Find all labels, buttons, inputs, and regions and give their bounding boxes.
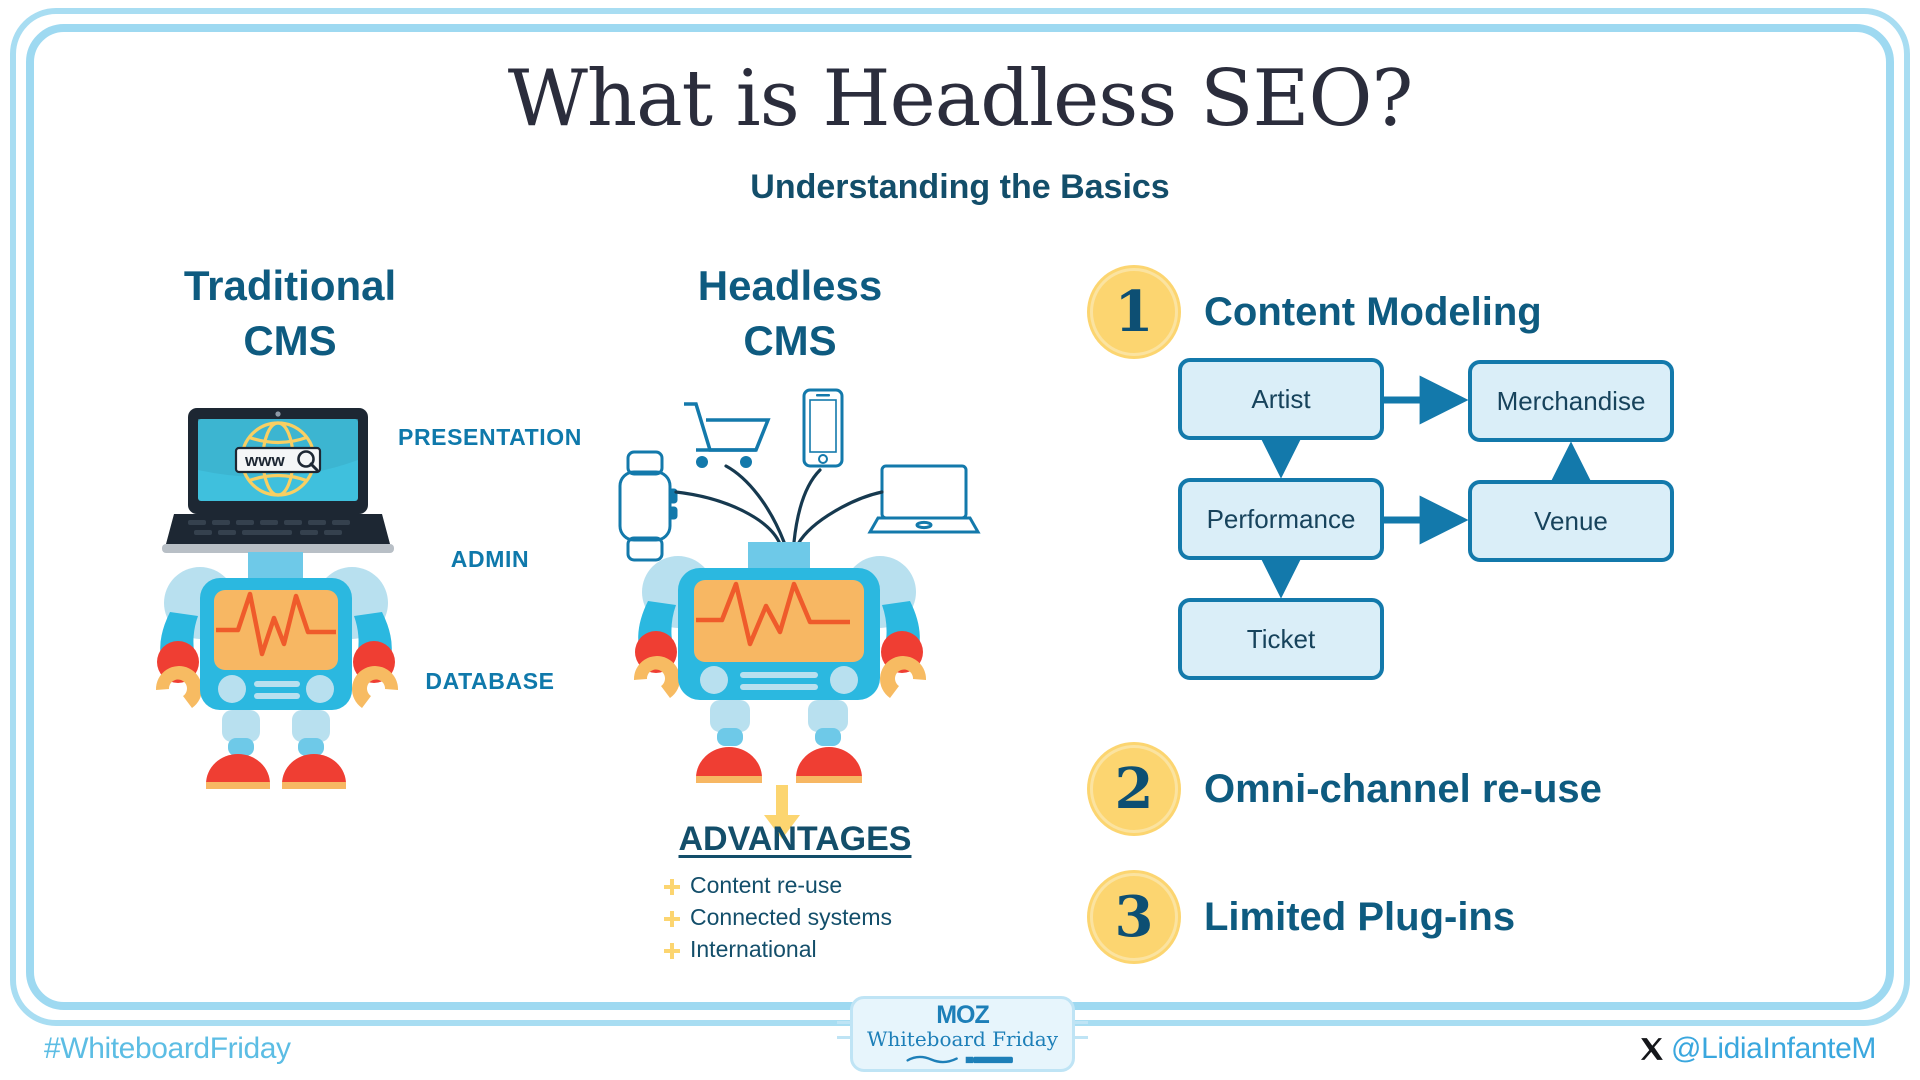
- channel-cables: [676, 466, 882, 544]
- page-subtitle: Understanding the Basics: [0, 168, 1920, 207]
- advantage-label: Content re-use: [690, 872, 842, 899]
- step-item-1: 1 Content Modeling: [1090, 268, 1542, 356]
- smartphone-icon: [804, 390, 842, 466]
- heading-headless-line1: Headless: [620, 258, 960, 313]
- step-item-3: 3 Limited Plug-ins: [1090, 873, 1515, 961]
- moz-badge-title: Whiteboard Friday: [867, 1028, 1058, 1051]
- plus-icon: [662, 876, 682, 896]
- marker-squiggle-icon: [904, 1053, 1022, 1066]
- moz-whiteboard-friday-badge: MOZ Whiteboard Friday: [850, 996, 1075, 1072]
- traditional-cms-robot-illustration: www: [132, 400, 422, 790]
- step-label: Limited Plug-ins: [1204, 895, 1515, 940]
- moz-wordmark: MOZ: [936, 1003, 989, 1028]
- plus-icon: [662, 940, 682, 960]
- headless-cms-robot-illustration: [598, 382, 988, 802]
- advantages-list: Content re-use Connected systems Interna…: [662, 872, 992, 968]
- footer-social-handle[interactable]: @LidiaInfanteM: [1639, 1032, 1876, 1066]
- heading-headless-cms: Headless CMS: [620, 258, 960, 369]
- node-ticket[interactable]: Ticket: [1178, 598, 1384, 680]
- step-number-badge: 1: [1090, 268, 1178, 356]
- advantage-item: International: [662, 936, 992, 963]
- page-title: What is Headless SEO?: [0, 60, 1920, 138]
- badge-tab-right: [1072, 1021, 1088, 1039]
- shopping-cart-icon: [684, 404, 768, 468]
- step-item-2: 2 Omni-channel re-use: [1090, 745, 1602, 833]
- smartwatch-icon: [620, 452, 676, 560]
- laptop-head-icon: www: [162, 408, 394, 553]
- advantage-item: Connected systems: [662, 904, 992, 931]
- content-model-diagram: Artist Merchandise Performance Venue Tic…: [1178, 358, 1678, 698]
- node-merchandise[interactable]: Merchandise: [1468, 360, 1674, 442]
- x-twitter-icon[interactable]: [1639, 1036, 1665, 1062]
- node-performance[interactable]: Performance: [1178, 478, 1384, 560]
- search-www-text: www: [244, 451, 285, 470]
- advantage-label: International: [690, 936, 817, 963]
- step-label: Omni-channel re-use: [1204, 767, 1602, 812]
- laptop-icon: [870, 466, 978, 532]
- step-number-badge: 3: [1090, 873, 1178, 961]
- heading-traditional-line2: CMS: [100, 313, 480, 368]
- node-artist[interactable]: Artist: [1178, 358, 1384, 440]
- advantage-item: Content re-use: [662, 872, 992, 899]
- plus-icon: [662, 908, 682, 928]
- footer-hashtag: #WhiteboardFriday: [44, 1032, 291, 1066]
- heading-headless-line2: CMS: [620, 313, 960, 368]
- step-number-badge: 2: [1090, 745, 1178, 833]
- step-label: Content Modeling: [1204, 290, 1542, 335]
- advantages-title: ADVANTAGES: [600, 820, 990, 859]
- slide-canvas: What is Headless SEO? Understanding the …: [0, 0, 1920, 1080]
- badge-tab-left: [837, 1021, 853, 1039]
- heading-traditional-cms: Traditional CMS: [100, 258, 480, 369]
- footer-handle-text[interactable]: @LidiaInfanteM: [1671, 1032, 1876, 1066]
- heading-traditional-line1: Traditional: [100, 258, 480, 313]
- node-venue[interactable]: Venue: [1468, 480, 1674, 562]
- advantage-label: Connected systems: [690, 904, 892, 931]
